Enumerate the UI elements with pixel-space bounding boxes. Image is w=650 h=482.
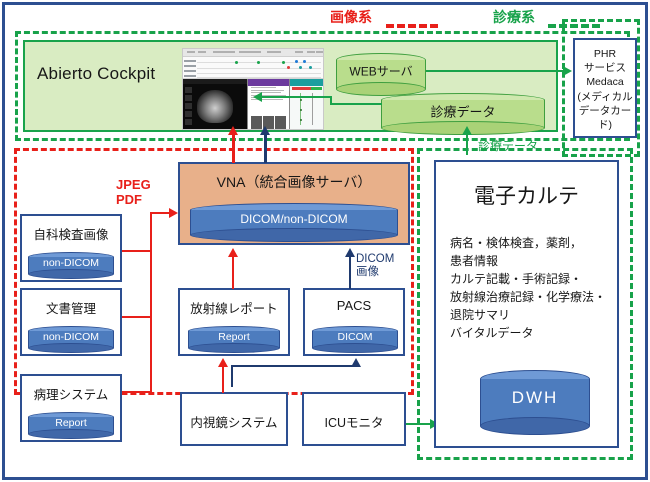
- self-exam-store-cylinder: non-DICOM: [28, 252, 114, 274]
- vna-store-label: DICOM/non-DICOM: [190, 212, 398, 226]
- line-clinicaldata-to-cockpit-h2: [262, 96, 332, 98]
- pathology-system-title: 病理システム: [22, 384, 120, 403]
- line-emr-to-clinicaldata: [466, 133, 468, 155]
- cockpit-title: Abierto Cockpit: [37, 64, 155, 84]
- icu-monitor-box: ICUモニタ: [302, 392, 406, 446]
- line-docmgmt-to-trunk: [122, 316, 152, 318]
- web-server-cylinder: WEBサーバ: [336, 53, 426, 89]
- web-server-label: WEBサーバ: [336, 63, 426, 80]
- document-mgmt-store-cylinder: non-DICOM: [28, 326, 114, 348]
- line-clinicaldata-to-cockpit-v: [330, 97, 332, 105]
- clinical-data-cylinder: 診療データ: [381, 93, 545, 128]
- radiology-report-store-cylinder: Report: [188, 326, 280, 348]
- arrow-pacs-to-vna: [345, 248, 355, 257]
- pathology-store-cylinder: Report: [28, 412, 114, 434]
- line-jpegpdf-trunk: [150, 212, 152, 392]
- self-exam-store-label: non-DICOM: [28, 257, 114, 269]
- thumb-timeline: [183, 57, 323, 79]
- vna-title: VNA（統合画像サーバ）: [180, 172, 408, 192]
- pathology-store-label: Report: [28, 417, 114, 429]
- icu-monitor-title: ICUモニタ: [304, 412, 404, 431]
- endoscopy-system-title: 内視鏡システム: [182, 412, 286, 431]
- line-vna-to-cockpit-red: [232, 133, 235, 163]
- phr-service-box: PHR サービス Medaca (メディカル データカード): [573, 38, 637, 138]
- line-radreport-to-vna: [232, 255, 234, 289]
- pacs-title: PACS: [305, 298, 403, 313]
- line-pacs-to-vna: [349, 255, 351, 289]
- line-vna-to-cockpit-navy: [264, 133, 267, 163]
- endoscopy-system-box: 内視鏡システム: [180, 392, 288, 446]
- document-mgmt-store-label: non-DICOM: [28, 331, 114, 343]
- clinical-data-label: 診療データ: [381, 101, 545, 120]
- line-endoscopy-elbow-v: [231, 365, 233, 387]
- pacs-store-cylinder: DICOM: [312, 326, 398, 348]
- self-exam-image-title: 自科検査画像: [22, 224, 120, 243]
- line-webserver-to-phr: [426, 70, 565, 72]
- legend-imaging-label: 画像系: [330, 9, 372, 25]
- jpeg-pdf-label: JPEG PDF: [116, 178, 151, 208]
- thumb-toolbar: [183, 49, 323, 57]
- phr-label: PHR サービス Medaca (メディカル データカード): [575, 47, 635, 132]
- thumb-chart-viewer: [289, 79, 323, 130]
- document-mgmt-title: 文書管理: [22, 298, 120, 317]
- arrow-to-cockpit: [253, 92, 262, 102]
- line-endoscopy-elbow-h: [231, 365, 357, 367]
- clinical-data-edge-label: 診療データ: [478, 140, 538, 154]
- arrow-radreport-to-vna: [228, 248, 238, 257]
- legend-imaging-key: [386, 24, 438, 28]
- line-endoscopy-to-radreport: [222, 365, 224, 393]
- line-icu-to-emr: [406, 423, 432, 425]
- line-selfexam-to-trunk: [122, 250, 152, 252]
- arrow-vna-to-cockpit-red: [228, 126, 238, 135]
- thumb-report-viewer: [247, 79, 289, 130]
- dicom-image-edge-label: DICOM 画像: [356, 253, 394, 279]
- abierto-cockpit-dashboard-screenshot: [182, 48, 324, 130]
- arrow-jpegpdf-to-vna: [169, 208, 178, 218]
- dwh-label: DWH: [480, 388, 590, 408]
- emr-body-text: 病名・検体検査，薬剤， 患者情報 カルテ記載・手術記録・ 放射線治療記録・化学療…: [450, 234, 611, 342]
- arrow-endoscopy-to-radreport: [218, 358, 228, 367]
- line-pathology-to-trunk: [122, 391, 152, 393]
- arrow-to-phr: [563, 66, 572, 76]
- dwh-cylinder: DWH: [480, 370, 590, 426]
- line-clinicaldata-to-cockpit-h: [330, 103, 382, 105]
- arrow-endoscopy-to-pacs: [351, 358, 361, 367]
- arrow-emr-to-clinicaldata: [462, 126, 472, 135]
- vna-store-cylinder: DICOM/non-DICOM: [190, 203, 398, 235]
- arrow-vna-to-cockpit-navy: [260, 126, 270, 135]
- thumb-ct-viewer: [183, 79, 247, 130]
- radiology-report-store-label: Report: [188, 331, 280, 343]
- radiology-report-title: 放射線レポート: [180, 298, 288, 317]
- legend-clinical-label: 診療系: [493, 9, 535, 25]
- pacs-store-label: DICOM: [312, 331, 398, 343]
- emr-title: 電子カルテ: [436, 180, 617, 210]
